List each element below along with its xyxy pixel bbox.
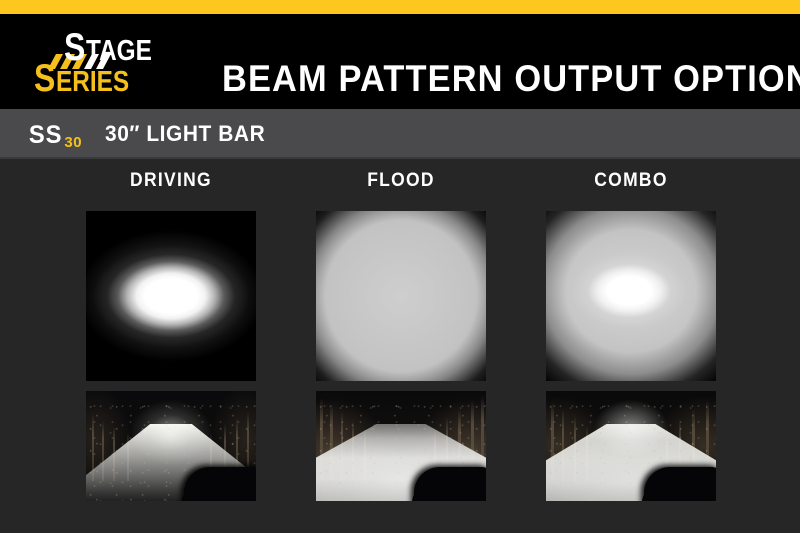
- column-label-driving: DRIVING: [93, 168, 249, 194]
- product-subbar: SS30 30″ LIGHT BAR: [0, 109, 800, 159]
- column-label-flood: FLOOD: [323, 168, 479, 194]
- product-name-label: 30″ LIGHT BAR: [105, 121, 265, 147]
- combo-road-photo: [546, 391, 716, 501]
- driving-beam-hotspot: [86, 211, 256, 381]
- header-bar: STAGE SERIES BEAM PATTERN OUTPUT OPTIONS: [0, 14, 800, 109]
- vehicle-hood: [644, 467, 716, 501]
- column-driving: DRIVING: [86, 168, 256, 501]
- vehicle-hood: [184, 467, 256, 501]
- ss-badge-main: SS: [29, 121, 63, 150]
- column-flood: FLOOD: [316, 168, 486, 501]
- combo-beam-hotspot: [546, 211, 716, 381]
- page-title: BEAM PATTERN OUTPUT OPTIONS: [222, 58, 800, 100]
- flood-road-photo: [316, 391, 486, 501]
- combo-beam-pattern: [546, 211, 716, 381]
- flood-beam-core: [316, 211, 486, 381]
- vehicle-hood: [414, 467, 486, 501]
- ss30-badge: SS30: [28, 121, 82, 150]
- ss-badge-subscript: 30: [64, 134, 82, 151]
- driving-road-photo: [86, 391, 256, 501]
- logo-series-rest: ERIES: [56, 68, 129, 97]
- stage-series-logo: STAGE SERIES: [28, 26, 196, 98]
- logo-series-initial: S: [34, 59, 55, 98]
- top-accent-strip: [0, 0, 800, 14]
- driving-beam-pattern: [86, 211, 256, 381]
- column-label-combo: COMBO: [553, 168, 709, 194]
- logo-word-series: SERIES: [34, 59, 143, 98]
- beam-pattern-infographic: STAGE SERIES BEAM PATTERN OUTPUT OPTIONS…: [0, 0, 800, 533]
- column-combo: COMBO: [546, 168, 716, 501]
- flood-beam-pattern: [316, 211, 486, 381]
